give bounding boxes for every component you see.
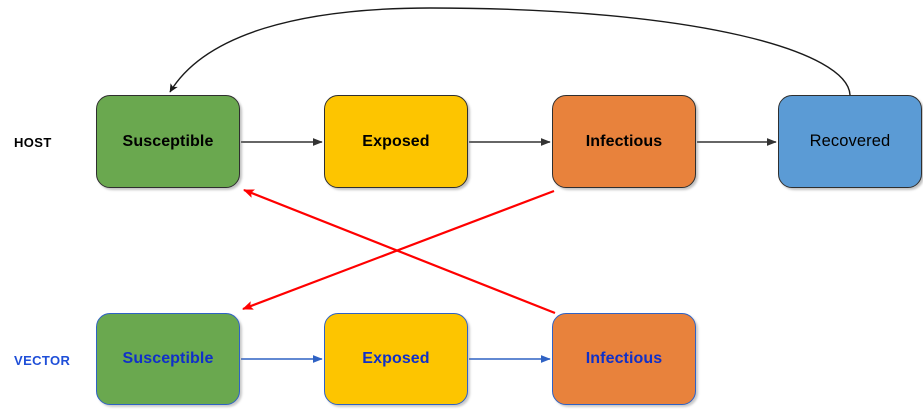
node-vector-susceptible[interactable]: Susceptible	[96, 313, 240, 405]
node-host-infectious[interactable]: Infectious	[552, 95, 696, 188]
diagram-canvas: HOST VECTOR Susceptible Exposed Infectio…	[0, 0, 923, 409]
node-vector-infectious[interactable]: Infectious	[552, 313, 696, 405]
node-label-host-recovered: Recovered	[810, 133, 891, 150]
row-label-host: HOST	[14, 135, 52, 150]
node-vector-exposed[interactable]: Exposed	[324, 313, 468, 405]
node-label-host-exposed: Exposed	[362, 134, 429, 150]
edge-host-recovered-to-susceptible-curve	[170, 8, 850, 95]
row-label-vector: VECTOR	[14, 353, 70, 368]
node-label-vector-infectious: Infectious	[586, 351, 663, 367]
node-label-host-susceptible: Susceptible	[123, 134, 214, 150]
node-host-exposed[interactable]: Exposed	[324, 95, 468, 188]
node-label-vector-exposed: Exposed	[362, 351, 429, 367]
node-label-vector-susceptible: Susceptible	[123, 351, 214, 367]
node-host-recovered[interactable]: Recovered	[778, 95, 922, 188]
node-host-susceptible[interactable]: Susceptible	[96, 95, 240, 188]
node-label-host-infectious: Infectious	[586, 134, 663, 150]
